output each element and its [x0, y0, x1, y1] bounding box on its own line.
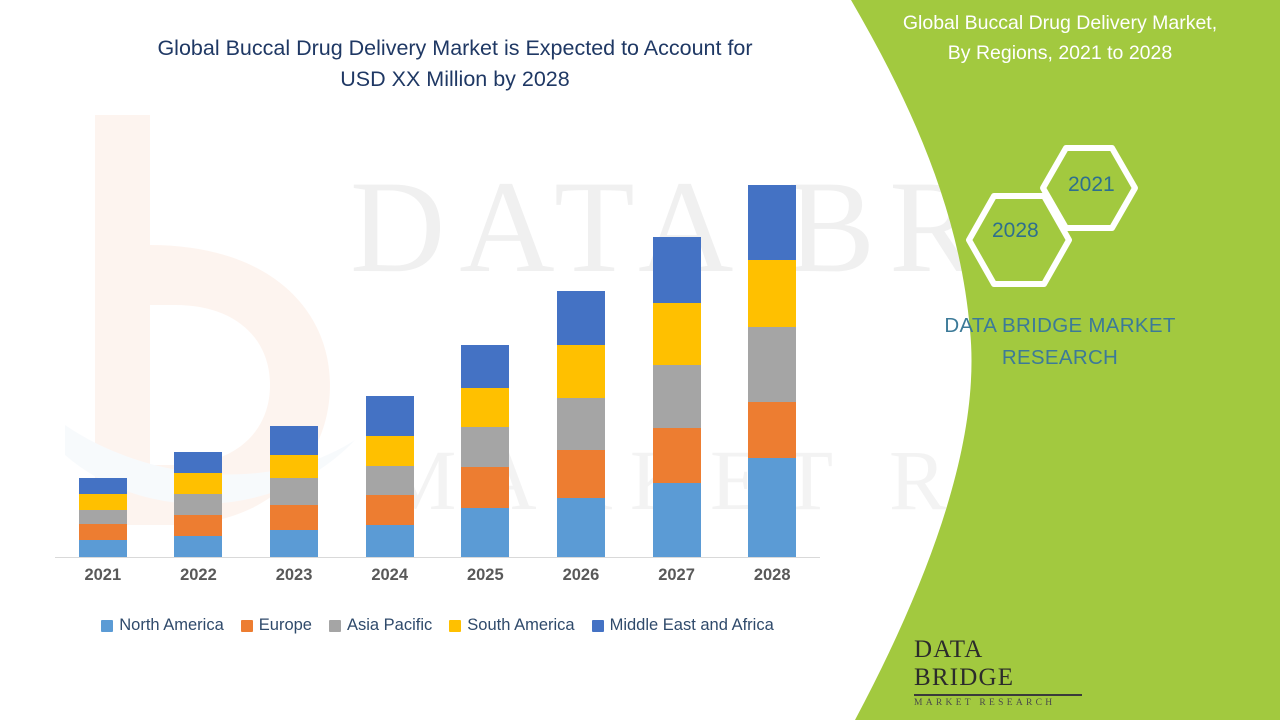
bar-segment: [366, 525, 414, 557]
bar-segment: [174, 515, 222, 536]
bar-segment: [174, 494, 222, 515]
bar-column: [342, 120, 438, 557]
logo-wordmark: DATA BRIDGE MARKET RESEARCH: [914, 636, 1084, 708]
bar-segment: [366, 495, 414, 525]
chart-title-line-2: USD XX Million by 2028: [60, 64, 850, 95]
bar-segment: [748, 402, 796, 458]
bar-segment: [461, 467, 509, 508]
bar-segment: [174, 473, 222, 494]
bar-column: [629, 120, 725, 557]
bar-column: [55, 120, 151, 557]
bar-segment: [748, 260, 796, 327]
chart-panel: Global Buccal Drug Delivery Market is Ex…: [0, 0, 870, 720]
chart-title: Global Buccal Drug Delivery Market is Ex…: [60, 33, 850, 95]
bar-segment: [557, 450, 605, 498]
hexagon-badges: 2021 2028: [960, 140, 1190, 290]
legend-label: South America: [467, 616, 574, 635]
bar-column: [724, 120, 820, 557]
hexagon-label-2021: 2021: [1068, 173, 1115, 197]
bar-segment: [366, 436, 414, 466]
bar-segment: [366, 466, 414, 495]
bar-column: [151, 120, 247, 557]
hexagon-label-2028: 2028: [992, 219, 1039, 243]
bar-segment: [653, 237, 701, 303]
bar-segment: [557, 398, 605, 450]
bar-segment: [174, 536, 222, 557]
bar-segment: [557, 291, 605, 345]
bar-stack-2023: [270, 426, 318, 557]
bar-segment: [174, 452, 222, 473]
x-axis-label-2026: 2026: [533, 566, 629, 585]
company-logo: DATA BRIDGE MARKET RESEARCH: [830, 628, 1080, 706]
legend-swatch-icon: [101, 620, 113, 632]
legend-label: Middle East and Africa: [610, 616, 774, 635]
legend-swatch-icon: [241, 620, 253, 632]
bar-segment: [270, 530, 318, 557]
bar-segment: [653, 365, 701, 428]
bar-segment: [270, 505, 318, 530]
hexagon-outlines-icon: [960, 140, 1190, 290]
bar-segment: [79, 510, 127, 524]
legend-swatch-icon: [449, 620, 461, 632]
bar-stack-2022: [174, 452, 222, 557]
bar-group: [55, 120, 820, 557]
logo-divider: [914, 694, 1082, 696]
bar-segment: [461, 508, 509, 557]
bar-segment: [557, 498, 605, 557]
x-axis-line: [55, 557, 820, 558]
bar-segment: [461, 345, 509, 388]
legend-swatch-icon: [592, 620, 604, 632]
bar-segment: [748, 327, 796, 402]
bar-stack-2021: [79, 478, 127, 557]
bar-segment: [270, 426, 318, 455]
chart-legend: North AmericaEuropeAsia PacificSouth Ame…: [55, 616, 820, 635]
bar-segment: [653, 483, 701, 557]
legend-item[interactable]: Middle East and Africa: [592, 616, 774, 635]
bar-stack-2025: [461, 345, 509, 557]
bar-column: [246, 120, 342, 557]
bar-segment: [748, 458, 796, 557]
legend-label: North America: [119, 616, 224, 635]
brand-name-line-1: DATA BRIDGE MARKET: [850, 310, 1270, 342]
bar-segment: [270, 455, 318, 478]
green-panel-title-line-2: By Regions, 2021 to 2028: [850, 38, 1270, 68]
bar-stack-2028: [748, 185, 796, 557]
x-axis-label-2028: 2028: [724, 566, 820, 585]
chart-title-line-1: Global Buccal Drug Delivery Market is Ex…: [60, 33, 850, 64]
bar-segment: [79, 494, 127, 510]
brand-name-text: DATA BRIDGE MARKET RESEARCH: [850, 310, 1270, 374]
bar-stack-2024: [366, 396, 414, 557]
bar-segment: [270, 478, 318, 505]
bar-segment: [79, 524, 127, 540]
legend-item[interactable]: Asia Pacific: [329, 616, 432, 635]
x-axis-label-2024: 2024: [342, 566, 438, 585]
bar-column: [533, 120, 629, 557]
logo-sub-text: MARKET RESEARCH: [914, 698, 1084, 708]
legend-label: Asia Pacific: [347, 616, 432, 635]
legend-swatch-icon: [329, 620, 341, 632]
bar-segment: [461, 427, 509, 467]
legend-item[interactable]: North America: [101, 616, 224, 635]
x-axis-label-2027: 2027: [629, 566, 725, 585]
legend-item[interactable]: Europe: [241, 616, 312, 635]
x-axis-label-2021: 2021: [55, 566, 151, 585]
green-panel-title-line-1: Global Buccal Drug Delivery Market,: [850, 8, 1270, 38]
logo-main-text: DATA BRIDGE: [914, 636, 1084, 692]
bar-segment: [461, 388, 509, 427]
bar-segment: [79, 540, 127, 557]
infographic-slide: DATA BRIDGE MARKET RESEARCH Global Bucca…: [0, 0, 1280, 720]
x-axis-label-2023: 2023: [246, 566, 342, 585]
green-panel-title: Global Buccal Drug Delivery Market, By R…: [850, 8, 1270, 68]
x-axis-label-2022: 2022: [151, 566, 247, 585]
brand-name-line-2: RESEARCH: [850, 342, 1270, 374]
x-axis-label-2025: 2025: [438, 566, 534, 585]
bar-stack-2026: [557, 291, 605, 557]
bar-segment: [557, 345, 605, 398]
bar-segment: [366, 396, 414, 436]
bar-segment: [748, 185, 796, 260]
x-axis-labels: 20212022202320242025202620272028: [55, 566, 820, 585]
bar-column: [438, 120, 534, 557]
bar-segment: [653, 428, 701, 483]
bar-stack-2027: [653, 237, 701, 557]
green-side-panel: Global Buccal Drug Delivery Market, By R…: [820, 0, 1280, 720]
plot-area: [55, 120, 820, 558]
legend-item[interactable]: South America: [449, 616, 574, 635]
bar-segment: [79, 478, 127, 494]
legend-label: Europe: [259, 616, 312, 635]
bar-segment: [653, 303, 701, 365]
